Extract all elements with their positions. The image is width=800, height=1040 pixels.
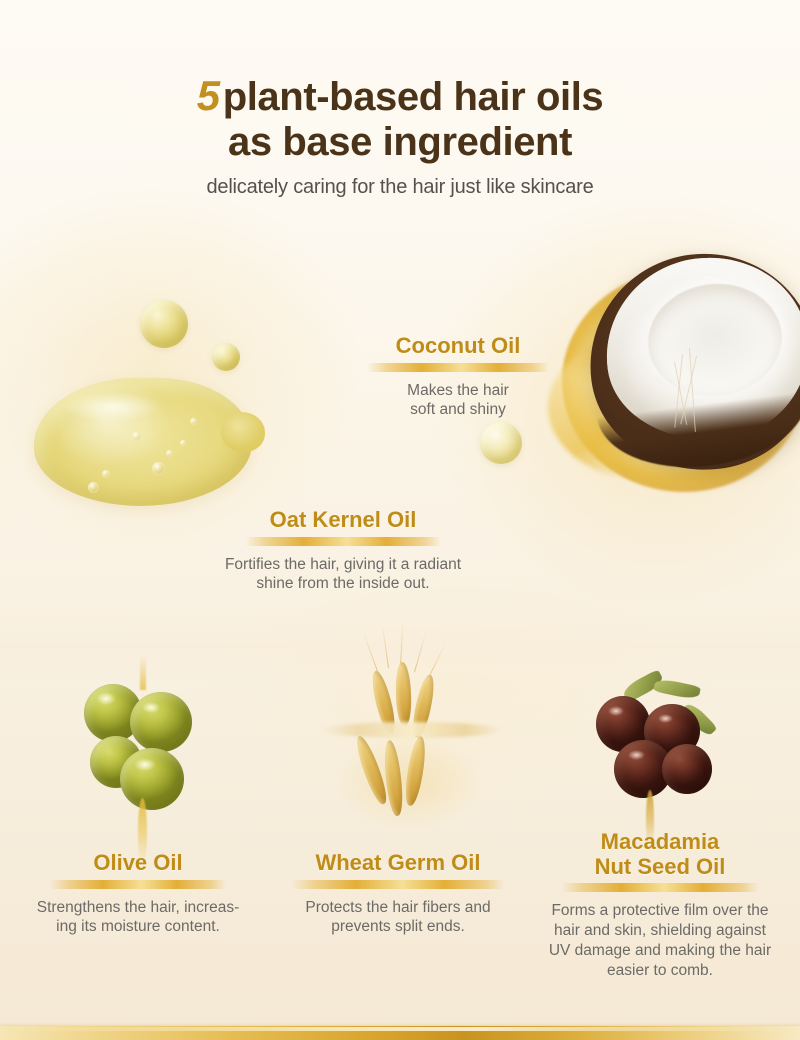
- infographic-page: 5plant-based hair oils as base ingredien…: [0, 0, 800, 1040]
- warm-glow-left: [0, 180, 360, 560]
- coconut-image: [556, 236, 800, 506]
- headline-line-2: as base ingredient: [0, 120, 800, 165]
- ingredient-wheat-germ: Wheat Germ Oil Protects the hair fibers …: [268, 851, 528, 937]
- macadamia-highlight: [608, 706, 624, 716]
- ingredient-body-macadamia: Forms a protective film over the hair an…: [524, 901, 796, 980]
- page-header: 5plant-based hair oils as base ingredien…: [0, 72, 800, 199]
- headline-count: 5: [197, 72, 223, 119]
- olive-oil-stream-top: [140, 656, 146, 690]
- headline-subtitle: delicately caring for the hair just like…: [0, 176, 800, 199]
- ingredient-macadamia: MacadamiaNut Seed Oil Forms a protective…: [524, 830, 796, 981]
- ingredient-title-coconut: Coconut Oil: [390, 334, 527, 362]
- wheat-ear: [395, 662, 412, 726]
- olives-image: [76, 678, 204, 826]
- olive: [130, 692, 192, 752]
- title-underline: [50, 880, 226, 889]
- ingredient-title-macadamia: MacadamiaNut Seed Oil: [589, 830, 732, 882]
- oil-droplet-center: [480, 422, 522, 464]
- oil-blob-highlight: [64, 392, 160, 422]
- oil-bubble: [166, 450, 173, 457]
- oil-bubble: [132, 432, 141, 441]
- title-underline: [367, 363, 549, 372]
- ingredient-title-olive: Olive Oil: [87, 851, 188, 879]
- oil-bubble: [180, 440, 186, 446]
- title-underline: [245, 537, 441, 546]
- olive-highlight: [96, 692, 116, 705]
- macadamia-highlight: [658, 714, 673, 723]
- wheat-image: [330, 660, 490, 830]
- oil-bubble: [88, 482, 99, 493]
- ingredient-title-oat-kernel: Oat Kernel Oil: [264, 508, 423, 536]
- ingredient-body-coconut: Makes the hair soft and shiny: [333, 381, 583, 421]
- headline-line-1: 5plant-based hair oils: [0, 72, 800, 120]
- bottom-gold-bar-highlight: [0, 1027, 800, 1031]
- macadamia-title-line-1: Macadamia: [601, 829, 720, 854]
- oil-droplet-small: [212, 343, 240, 371]
- oil-bubble: [190, 418, 197, 425]
- ingredient-oat-kernel: Oat Kernel Oil Fortifies the hair, givin…: [183, 508, 503, 594]
- ingredient-body-wheat-germ: Protects the hair fibers and prevents sp…: [268, 898, 528, 938]
- headline-line-1-text: plant-based hair oils: [223, 75, 604, 119]
- ingredient-coconut: Coconut Oil Makes the hair soft and shin…: [333, 334, 583, 420]
- macadamia-nut: [662, 744, 712, 794]
- oil-droplet-large: [140, 300, 188, 348]
- oil-surface-line: [322, 722, 502, 738]
- oil-bubble: [152, 462, 165, 475]
- olive: [120, 748, 184, 810]
- macadamia-leaf: [653, 677, 701, 700]
- oil-bubble: [102, 470, 110, 478]
- ingredient-olive: Olive Oil Strengthens the hair, increas-…: [7, 851, 269, 937]
- olive-highlight: [142, 702, 160, 713]
- ingredient-title-wheat-germ: Wheat Germ Oil: [309, 851, 486, 879]
- macadamia-highlight: [628, 750, 645, 760]
- ingredient-body-olive: Strengthens the hair, increas- ing its m…: [7, 898, 269, 938]
- macadamia-image: [592, 678, 728, 828]
- macadamia-title-line-2: Nut Seed Oil: [595, 854, 726, 879]
- title-underline: [562, 883, 758, 892]
- ingredient-body-oat-kernel: Fortifies the hair, giving it a radiant …: [183, 555, 503, 595]
- olive-highlight: [134, 758, 156, 771]
- title-underline: [292, 880, 504, 889]
